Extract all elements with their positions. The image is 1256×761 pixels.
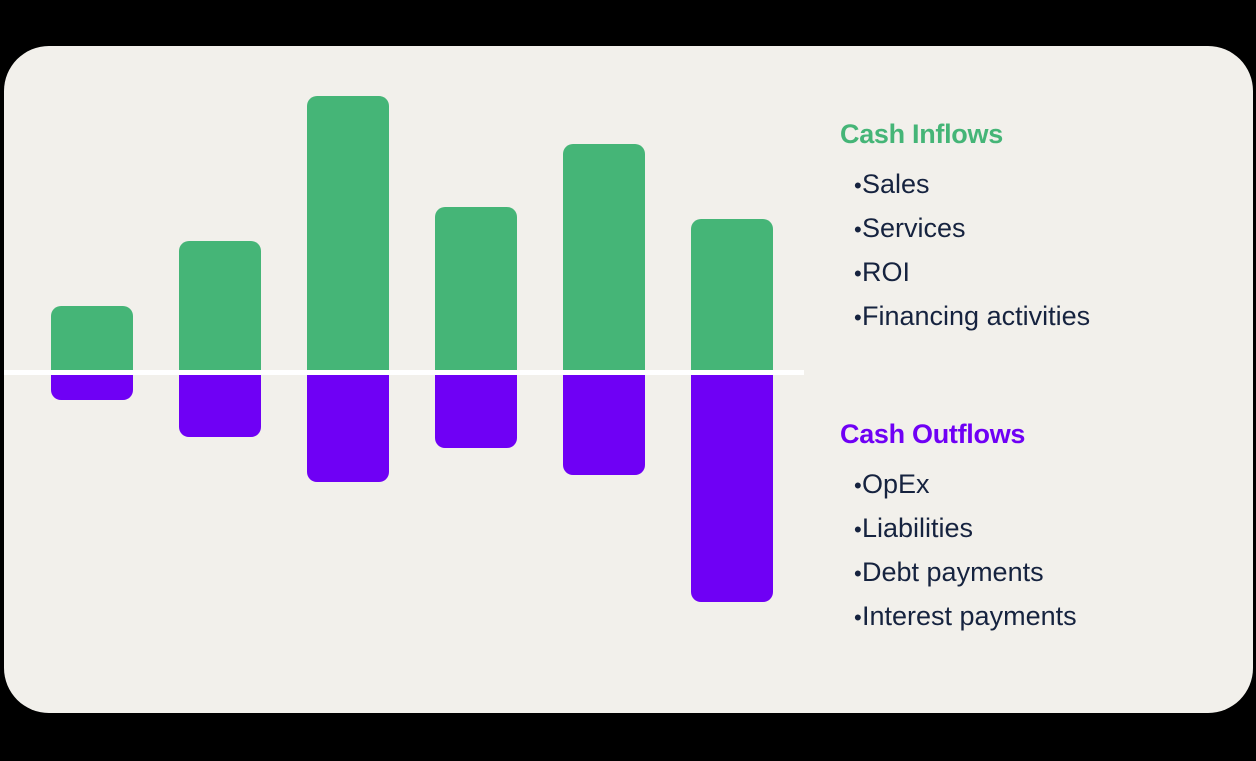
bullet-icon: • [840, 468, 862, 504]
bar-group [307, 46, 389, 713]
legend-item-label: Services [862, 206, 966, 250]
bar-cash-inflow [179, 241, 261, 370]
legend-title-cash-inflows: Cash Inflows [840, 120, 1253, 150]
bar-cash-inflow [435, 207, 517, 370]
bar-cash-outflow [435, 375, 517, 448]
legend-group-cash-inflows: Cash Inflows •Sales•Services•ROI•Financi… [840, 120, 1253, 338]
legend-item-inflow-1: •Services [840, 206, 1253, 250]
legend-item-outflow-0: •OpEx [840, 462, 1253, 506]
legend-item-label: Interest payments [862, 594, 1077, 638]
legend-item-label: ROI [862, 250, 910, 294]
legend-group-cash-outflows: Cash Outflows •OpEx•Liabilities•Debt pay… [840, 420, 1253, 638]
legend-item-label: Debt payments [862, 550, 1044, 594]
bar-cash-inflow [691, 219, 773, 370]
legend-item-outflow-2: •Debt payments [840, 550, 1253, 594]
bullet-icon: • [840, 600, 862, 636]
legend-item-inflow-3: •Financing activities [840, 294, 1253, 338]
bar-cash-outflow [563, 375, 645, 475]
legend-item-label: Financing activities [862, 294, 1090, 338]
bar-cash-outflow [691, 375, 773, 602]
bar-cash-inflow [563, 144, 645, 370]
legend-item-label: Liabilities [862, 506, 973, 550]
bar-cash-inflow [51, 306, 133, 370]
legend-list-cash-inflows: •Sales•Services•ROI•Financing activities [840, 162, 1253, 338]
bar-group [563, 46, 645, 713]
bullet-icon: • [840, 256, 862, 292]
bar-cash-inflow [307, 96, 389, 370]
legend-title-cash-outflows: Cash Outflows [840, 420, 1253, 450]
legend-item-inflow-2: •ROI [840, 250, 1253, 294]
zero-axis-line [4, 370, 804, 375]
bar-group [435, 46, 517, 713]
legend-item-inflow-0: •Sales [840, 162, 1253, 206]
bullet-icon: • [840, 556, 862, 592]
legend-item-label: Sales [862, 162, 930, 206]
legend-item-outflow-1: •Liabilities [840, 506, 1253, 550]
bar-group [51, 46, 133, 713]
legend-item-outflow-3: •Interest payments [840, 594, 1253, 638]
chart-legend: Cash Inflows •Sales•Services•ROI•Financi… [840, 46, 1253, 713]
bar-group [179, 46, 261, 713]
bar-cash-outflow [307, 375, 389, 482]
bullet-icon: • [840, 300, 862, 336]
bar-group [691, 46, 773, 713]
legend-item-label: OpEx [862, 462, 930, 506]
bullet-icon: • [840, 212, 862, 248]
diverging-bar-chart [4, 46, 804, 713]
bullet-icon: • [840, 512, 862, 548]
bullet-icon: • [840, 168, 862, 204]
bar-cash-outflow [179, 375, 261, 437]
chart-card: Cash Inflows •Sales•Services•ROI•Financi… [4, 46, 1253, 713]
bar-cash-outflow [51, 375, 133, 400]
legend-list-cash-outflows: •OpEx•Liabilities•Debt payments•Interest… [840, 462, 1253, 638]
